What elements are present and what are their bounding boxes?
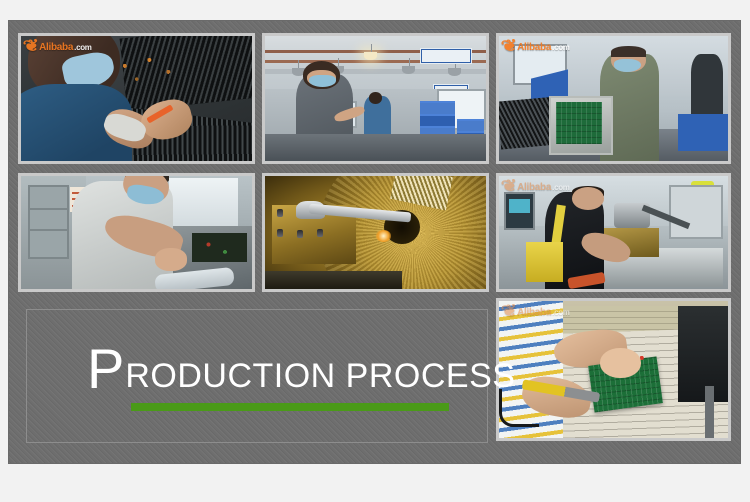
alibaba-swoosh-icon: ❦ bbox=[500, 178, 519, 196]
title-drop-cap: P bbox=[87, 347, 124, 392]
alibaba-tld: .com bbox=[552, 43, 569, 52]
photo-pcb-soldering[interactable]: ❦ Alibaba .com bbox=[496, 298, 731, 441]
alibaba-swoosh-icon: ❦ bbox=[500, 303, 519, 321]
alibaba-tld: .com bbox=[552, 308, 569, 317]
page-title: P RODUCTION PROCESS bbox=[87, 347, 515, 394]
photo-assembly-workshop-image bbox=[265, 36, 486, 161]
alibaba-watermark: ❦ Alibaba .com bbox=[503, 39, 570, 55]
photo-pcb-soldering-image bbox=[499, 301, 728, 438]
alibaba-watermark: ❦ Alibaba .com bbox=[25, 39, 92, 55]
photo-electronics-repair[interactable]: ❦ Alibaba .com bbox=[496, 33, 731, 164]
title-panel: P RODUCTION PROCESS bbox=[26, 309, 488, 443]
alibaba-watermark: ❦ Alibaba .com bbox=[503, 304, 570, 320]
photo-cnc-lathe-image bbox=[265, 176, 486, 289]
photo-assembly-workshop[interactable] bbox=[262, 33, 489, 164]
photo-cnc-lathe[interactable] bbox=[262, 173, 489, 292]
textured-board: ❦ Alibaba .com bbox=[9, 21, 740, 463]
photo-cable-assembly[interactable]: ❦ Alibaba .com bbox=[18, 33, 255, 164]
alibaba-swoosh-icon: ❦ bbox=[500, 38, 519, 56]
alibaba-tld: .com bbox=[552, 183, 569, 192]
alibaba-wordmark: Alibaba bbox=[517, 182, 551, 193]
alibaba-swoosh-icon: ❦ bbox=[22, 38, 41, 56]
alibaba-watermark: ❦ Alibaba .com bbox=[503, 179, 570, 195]
alibaba-wordmark: Alibaba bbox=[39, 42, 73, 53]
production-process-banner: ❦ Alibaba .com bbox=[0, 0, 750, 502]
title-underline-accent bbox=[131, 403, 449, 411]
alibaba-wordmark: Alibaba bbox=[517, 42, 551, 53]
title-text: RODUCTION PROCESS bbox=[125, 359, 515, 393]
photo-lathe-operator[interactable]: ❦ Alibaba .com bbox=[496, 173, 731, 292]
alibaba-wordmark: Alibaba bbox=[517, 307, 551, 318]
alibaba-tld: .com bbox=[74, 43, 91, 52]
photo-machine-operator-image bbox=[21, 176, 252, 289]
photo-machine-operator[interactable] bbox=[18, 173, 255, 292]
